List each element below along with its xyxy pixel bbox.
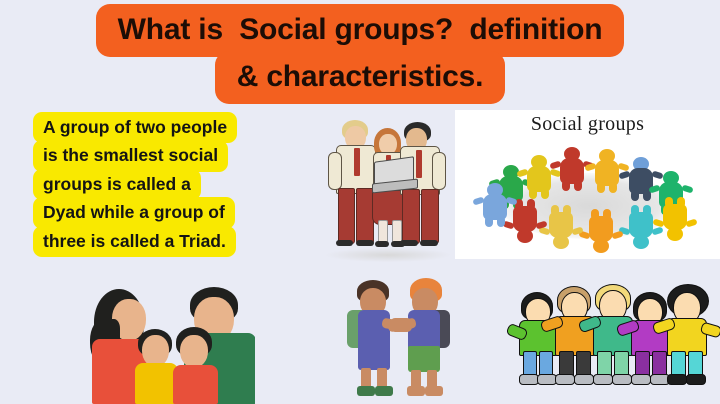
ring-figure-leg-right	[677, 197, 685, 208]
handshake-boy-left-shoe-a	[357, 386, 375, 396]
student-right-pant-a	[402, 189, 420, 244]
student-middle-shoe-a	[375, 241, 389, 247]
handshake-boy-left-shoe-b	[375, 386, 393, 396]
student-right-pant-b	[421, 189, 439, 244]
ring-figure-arm-right	[685, 218, 697, 227]
family-image	[80, 281, 255, 404]
handshake-boy-right-shoe-a	[407, 386, 425, 396]
callout-line-row: is the smallest social	[33, 140, 301, 171]
handshake-clasped-hands	[390, 318, 412, 332]
handshake-boy-left-shorts	[358, 348, 390, 370]
handshake-boy-right-shorts	[408, 346, 440, 372]
ring-figure-leg-left	[631, 205, 639, 216]
student-left-shoe-a	[336, 240, 353, 246]
student-left-arm	[328, 152, 342, 190]
title-line-1-row: What is Social groups? definition	[0, 4, 720, 57]
handshake-boy-right-shirt	[408, 310, 440, 350]
ring-figure-leg-left	[485, 216, 493, 227]
callout-line-row: A group of two people	[33, 112, 301, 143]
ring-figure-leg-right	[527, 199, 535, 210]
ring-figure-2	[524, 155, 554, 199]
student-right-shoe-a	[400, 240, 418, 246]
family-child-right-top	[173, 365, 218, 404]
student-right-shoe-b	[420, 240, 438, 246]
ring-figure-leg-left	[551, 205, 559, 216]
ring-figure-leg-left	[529, 188, 537, 199]
ring-figure-leg-right	[574, 180, 582, 191]
ring-figure-arm-right	[681, 184, 693, 193]
ring-figure-body	[589, 216, 613, 242]
ring-figure-leg-left	[665, 197, 673, 208]
student-left-shoe-b	[356, 240, 374, 246]
friend-3-shoe-a	[593, 374, 613, 385]
ring-figure-4	[592, 149, 622, 193]
ring-figure-leg-right	[497, 216, 505, 227]
callout-line-4: Dyad while a group of	[33, 197, 235, 228]
ring-figure-leg-left	[597, 182, 605, 193]
friend-5-shoe-a	[667, 374, 687, 385]
ring-figure-10	[546, 205, 576, 249]
five-friends-image	[515, 278, 713, 396]
ring-figure-leg-left	[631, 190, 639, 201]
title-line-2-row: & characteristics.	[0, 51, 720, 104]
ring-figure-5	[626, 157, 656, 201]
students-ground-shadow	[326, 248, 450, 262]
ring-figure-8	[626, 205, 656, 249]
callout-line-row: groups is called a	[33, 169, 301, 200]
friend-2-shoe-b	[574, 374, 594, 385]
ring-figure-leg-right	[643, 205, 651, 216]
ring-figure-3	[557, 147, 587, 191]
friend-5-shoe-b	[686, 374, 706, 385]
slide-canvas: What is Social groups? definition & char…	[0, 0, 720, 404]
definition-callout: A group of two people is the smallest so…	[33, 112, 301, 254]
ring-figure-body	[513, 206, 537, 232]
handshake-boy-right-shoe-b	[425, 386, 443, 396]
three-students-image	[318, 112, 458, 264]
friend-1-shoe-b	[537, 374, 557, 385]
friend-2-shoe-a	[555, 374, 575, 385]
student-right-tie	[416, 150, 422, 178]
title-line-1: What is Social groups? definition	[96, 4, 625, 57]
ring-figure-leg-left	[562, 180, 570, 191]
callout-line-3: groups is called a	[33, 169, 201, 200]
handshake-boy-left-shirt	[358, 310, 390, 352]
ring-figure-11	[510, 199, 540, 243]
family-child-right-head	[180, 335, 208, 368]
student-left-pant-a	[338, 188, 355, 244]
ring-figure-body	[549, 212, 573, 238]
friend-1-shoe-a	[519, 374, 539, 385]
student-right-arm	[432, 152, 446, 190]
callout-line-5: three is called a Triad.	[33, 226, 236, 257]
handshake-image	[338, 276, 466, 404]
ring-figure-leg-right	[609, 182, 617, 193]
friend-3-shoe-b	[612, 374, 632, 385]
ring-figure-leg-left	[591, 209, 599, 220]
ring-figure-arm-right	[611, 230, 623, 239]
title-line-2: & characteristics.	[215, 51, 506, 104]
ring-figure-body	[663, 204, 687, 230]
ring-figure-9	[586, 209, 616, 253]
people-circle-image	[474, 143, 702, 255]
callout-line-2: is the smallest social	[33, 140, 228, 171]
social-groups-caption: Social groups	[455, 113, 720, 136]
student-left-tie	[354, 148, 360, 176]
ring-figure-leg-right	[563, 205, 571, 216]
page-title: What is Social groups? definition & char…	[0, 4, 720, 104]
callout-line-row: Dyad while a group of	[33, 197, 301, 228]
ring-figure-leg-right	[541, 188, 549, 199]
callout-line-row: three is called a Triad.	[33, 226, 301, 257]
friend-4-shoe-a	[631, 374, 651, 385]
ring-figure-body	[629, 212, 653, 238]
ring-figure-12	[480, 183, 510, 227]
callout-line-1: A group of two people	[33, 112, 237, 143]
ring-figure-leg-right	[603, 209, 611, 220]
ring-figure-7	[660, 197, 690, 241]
family-child-left-top	[135, 363, 178, 404]
